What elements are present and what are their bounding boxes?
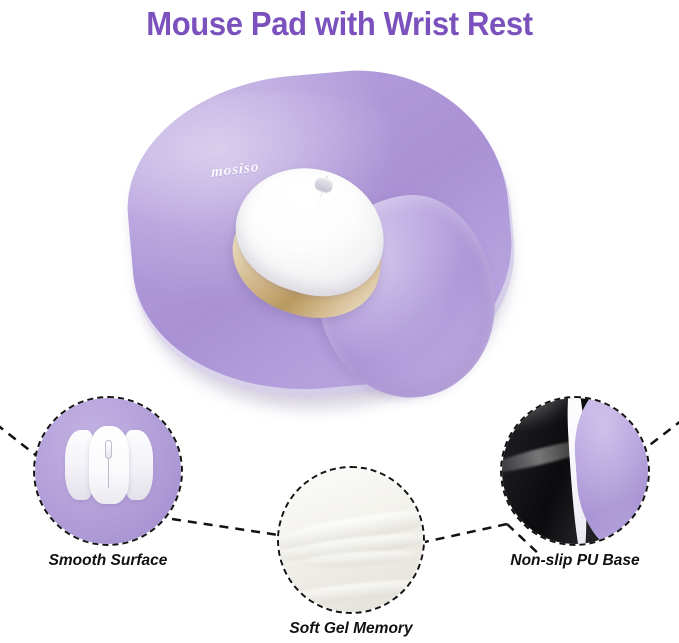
callout-soft-gel-memory-label: Soft Gel Memory xyxy=(277,620,425,638)
callout-smooth-surface-bubble xyxy=(33,396,183,546)
mouse-top-view-icon xyxy=(65,426,153,504)
mouse-scroll-wheel-icon xyxy=(105,440,112,459)
callout-non-slip-pu-base-label: Non-slip PU Base xyxy=(500,552,650,570)
callout-non-slip-pu-base-bubble xyxy=(500,396,650,546)
connector-smooth-to-gel xyxy=(172,519,285,536)
page-title: Mouse Pad with Wrist Rest xyxy=(20,2,658,46)
connector-gel-to-pu xyxy=(420,524,507,543)
hero-product-image: mosiso xyxy=(0,58,679,403)
callout-soft-gel-memory[interactable]: Soft Gel Memory xyxy=(277,466,425,614)
callout-smooth-surface-label: Smooth Surface xyxy=(33,552,183,570)
callout-smooth-surface[interactable]: Smooth Surface xyxy=(33,396,183,546)
callout-non-slip-pu-base[interactable]: Non-slip PU Base xyxy=(500,396,650,546)
callout-soft-gel-memory-bubble xyxy=(277,466,425,614)
